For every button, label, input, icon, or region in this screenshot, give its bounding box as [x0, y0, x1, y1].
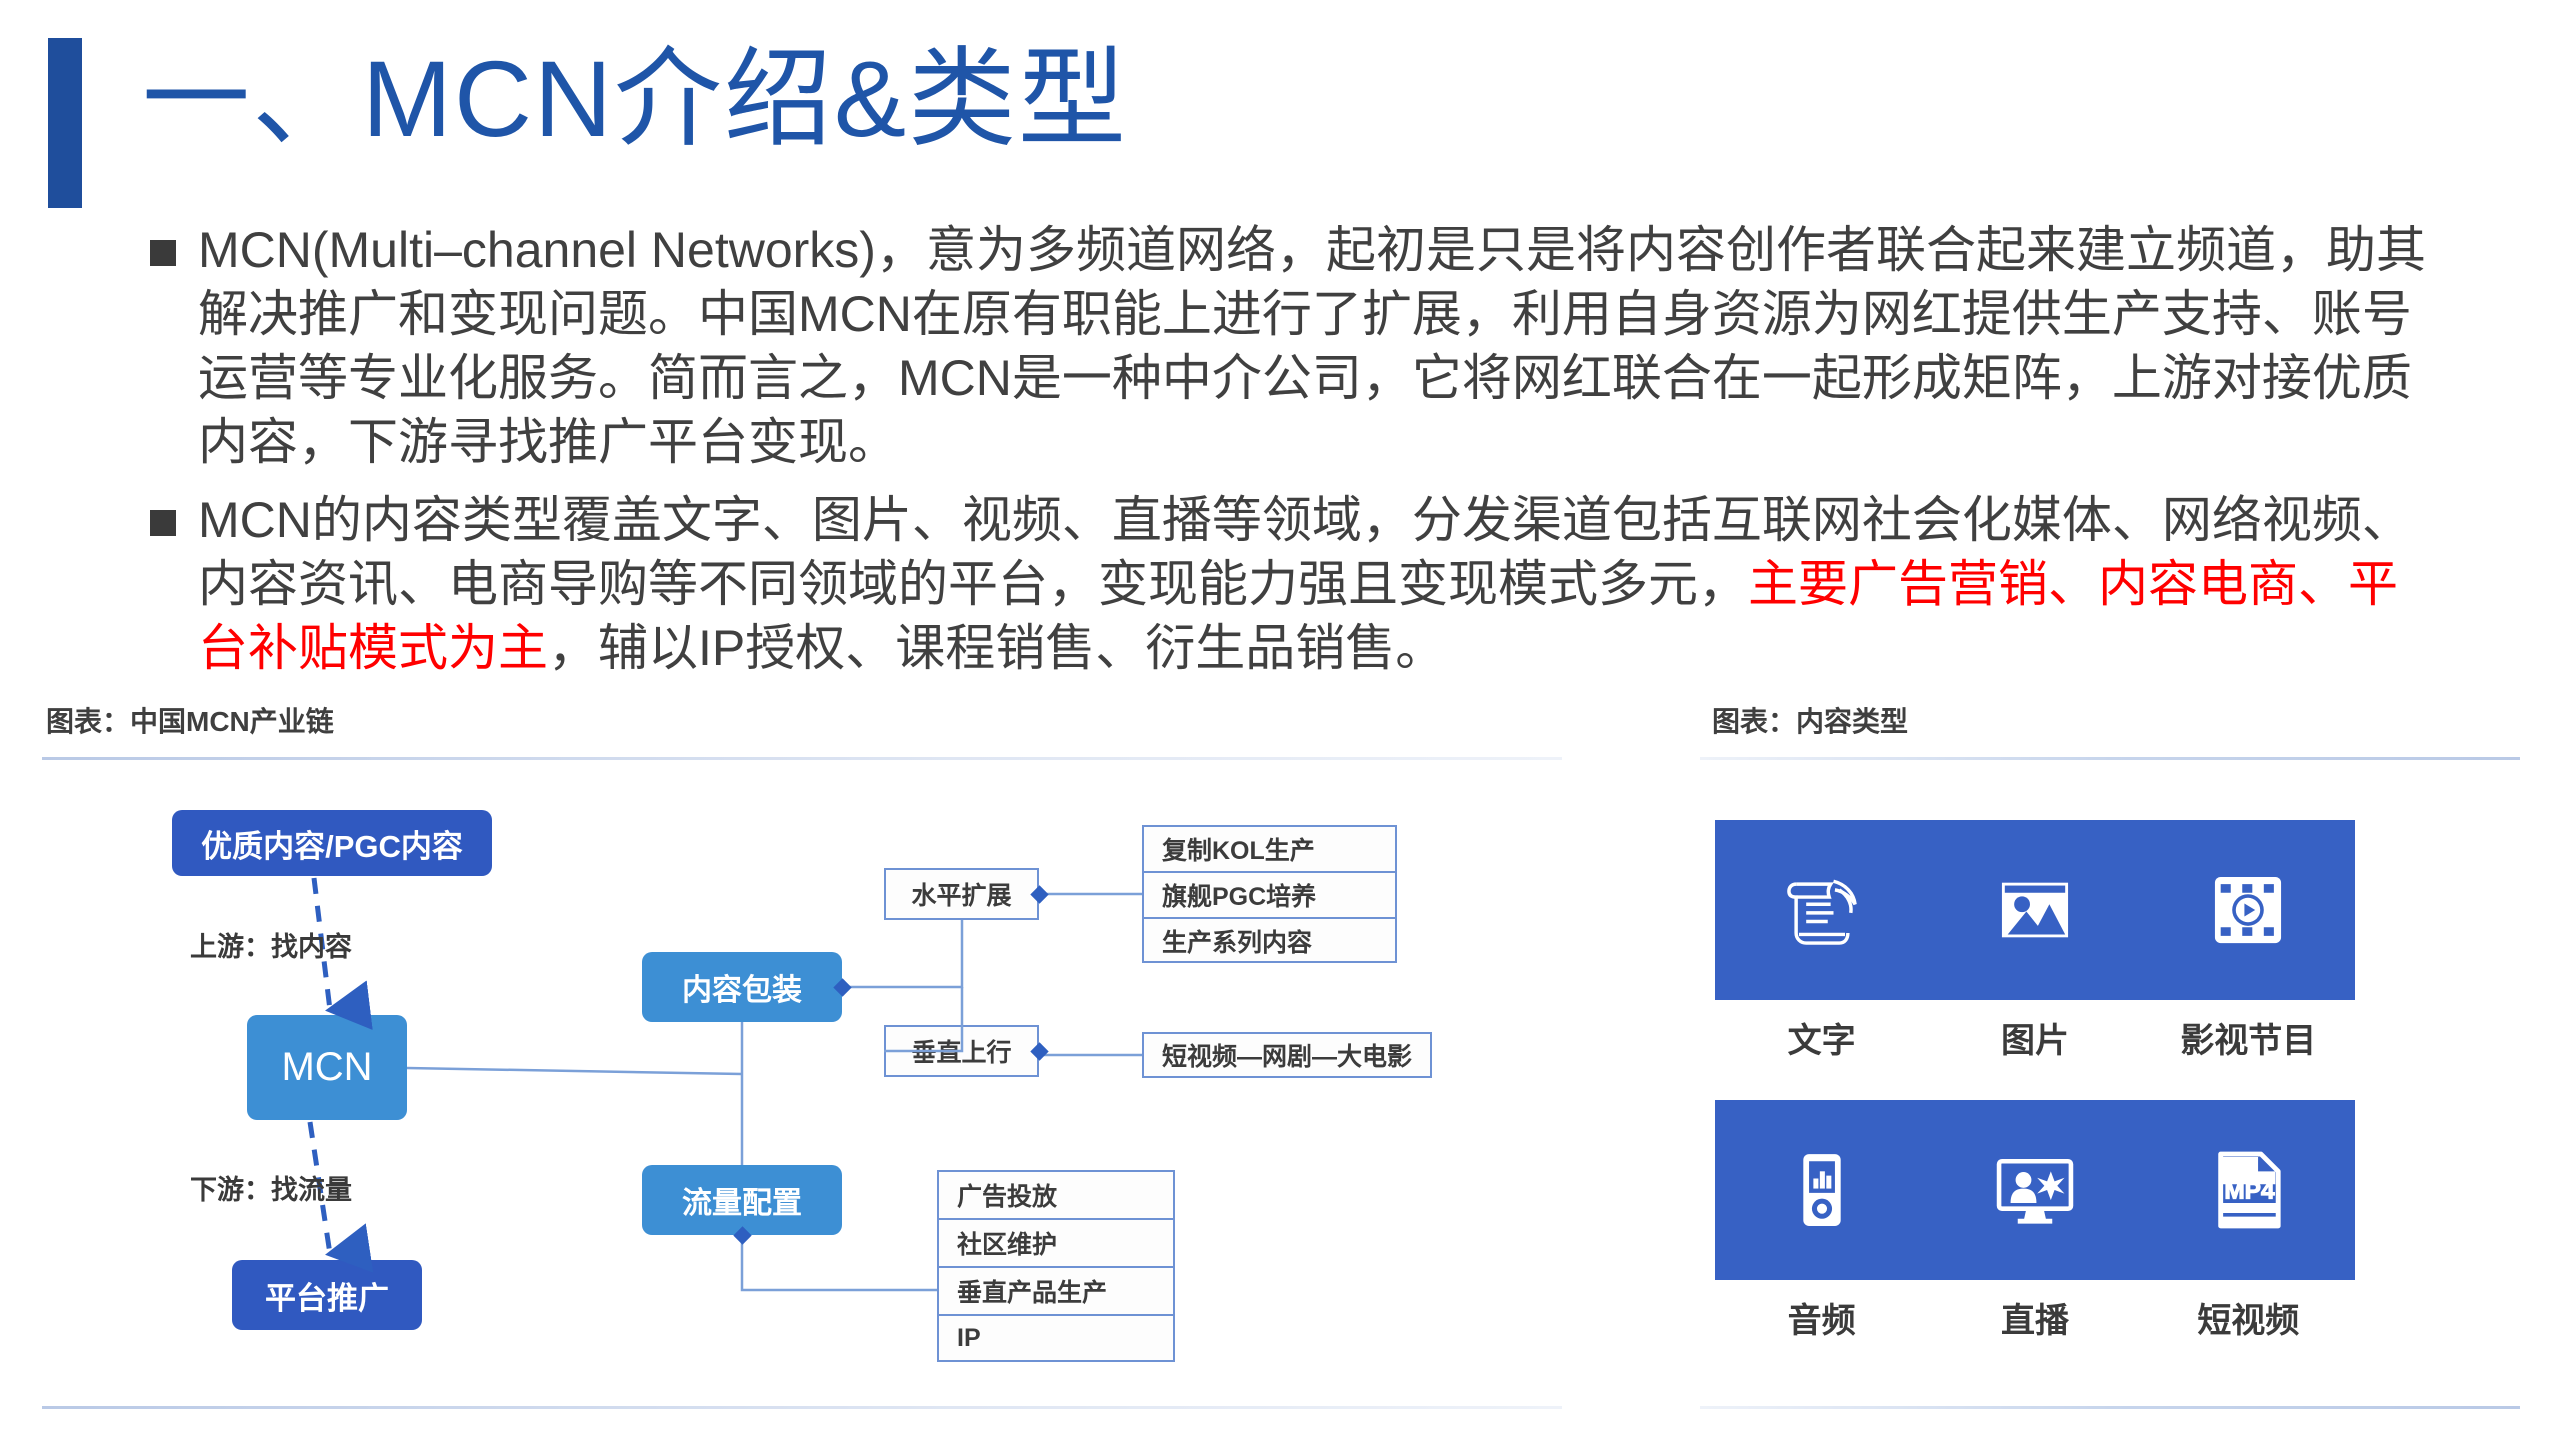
stack-row[interactable]: 广告投放	[939, 1172, 1173, 1220]
page-title: 一、MCN介绍&类型	[142, 24, 1128, 174]
square-bullet-icon	[150, 510, 176, 536]
edge-traffic-stack	[742, 1235, 937, 1290]
diagram-node-packaging[interactable]: 内容包装	[642, 952, 842, 1022]
stack-row[interactable]: IP	[939, 1316, 1173, 1360]
video-player-icon	[2142, 864, 2355, 956]
left-figure-caption: 图表：中国MCN产业链	[46, 700, 334, 740]
edge-packaging-horizontal	[842, 920, 962, 987]
right-figure-rule	[1700, 757, 2520, 760]
stack-row[interactable]: 社区维护	[939, 1220, 1173, 1268]
diagram-stack-traffic: 广告投放 社区维护 垂直产品生产 IP	[937, 1170, 1175, 1362]
diagram-node-platform[interactable]: 平台推广	[232, 1260, 422, 1330]
edge-label-upstream: 上游：找内容	[190, 925, 352, 964]
right-figure-caption: 图表：内容类型	[1712, 700, 1908, 740]
content-type-label: 短视频	[2142, 1293, 2355, 1342]
content-type-label: 直播	[1928, 1293, 2141, 1342]
diagram-node-vertical-upgrade[interactable]: 垂直上行	[884, 1025, 1039, 1077]
mp4-file-icon: MP4	[2142, 1144, 2355, 1236]
stack-row[interactable]: 复制KOL生产	[1144, 827, 1395, 873]
svg-text:MP4: MP4	[2225, 1178, 2276, 1205]
diagram-node-horizontal-expansion[interactable]: 水平扩展	[884, 868, 1039, 920]
content-type-label: 音频	[1715, 1293, 1928, 1342]
title-accent-bar	[48, 38, 82, 208]
diagram-stack-horizontal: 复制KOL生产 旗舰PGC培养 生产系列内容	[1142, 825, 1397, 963]
right-figure-rule-bottom	[1700, 1406, 2520, 1409]
bullet-1-segment-1: MCN(Multi–channel Networks)，意为多频道网络，起初是只…	[198, 222, 2426, 470]
square-bullet-icon	[150, 240, 176, 266]
edge-label-downstream: 下游：找流量	[190, 1168, 352, 1207]
content-type-label: 影视节目	[2142, 1013, 2355, 1062]
content-type-labels-row-2: 音频 直播 短视频	[1715, 1280, 2355, 1354]
list-item: MCN(Multi–channel Networks)，意为多频道网络，起初是只…	[150, 218, 2430, 474]
diagram-node-traffic[interactable]: 流量配置	[642, 1165, 842, 1235]
bullet-2-segment-3: ，辅以IP授权、课程销售、衍生品销售。	[548, 620, 1445, 676]
left-figure-rule	[42, 757, 1562, 760]
diagram-node-mcn[interactable]: MCN	[247, 1015, 407, 1120]
live-broadcast-icon	[1928, 1144, 2141, 1236]
list-item: MCN的内容类型覆盖文字、图片、视频、直播等领域，分发渠道包括互联网社会化媒体、…	[150, 488, 2430, 680]
stack-row[interactable]: 生产系列内容	[1144, 919, 1395, 963]
scroll-quill-icon	[1715, 864, 1928, 956]
bullet-paragraph-1: MCN(Multi–channel Networks)，意为多频道网络，起初是只…	[198, 218, 2430, 474]
music-player-icon	[1715, 1144, 1928, 1236]
stack-row[interactable]: 旗舰PGC培养	[1144, 873, 1395, 919]
body-bullet-list: MCN(Multi–channel Networks)，意为多频道网络，起初是只…	[150, 218, 2430, 694]
diagram-node-source[interactable]: 优质内容/PGC内容	[172, 810, 492, 876]
edge-mcn-trunk	[407, 1068, 742, 1074]
diagram-node-video-progression[interactable]: 短视频—网剧—大电影	[1142, 1032, 1432, 1078]
slide-header: 一、MCN介绍&类型	[0, 28, 2560, 168]
bullet-paragraph-2: MCN的内容类型覆盖文字、图片、视频、直播等领域，分发渠道包括互联网社会化媒体、…	[198, 488, 2430, 680]
content-type-band-row-2: MP4	[1715, 1100, 2355, 1280]
content-type-label: 文字	[1715, 1013, 1928, 1062]
mcn-industry-chain-diagram: 优质内容/PGC内容 MCN 平台推广 内容包装 流量配置 水平扩展 垂直上行 …	[42, 770, 1562, 1390]
stack-row[interactable]: 垂直产品生产	[939, 1268, 1173, 1316]
content-type-labels-row-1: 文字 图片 影视节目	[1715, 1000, 2355, 1074]
content-type-label: 图片	[1928, 1013, 2141, 1062]
image-icon	[1928, 864, 2141, 956]
content-type-band-row-1	[1715, 820, 2355, 1000]
left-figure-rule-bottom	[42, 1406, 1562, 1409]
content-type-panel: 文字 图片 影视节目	[1715, 820, 2355, 1354]
